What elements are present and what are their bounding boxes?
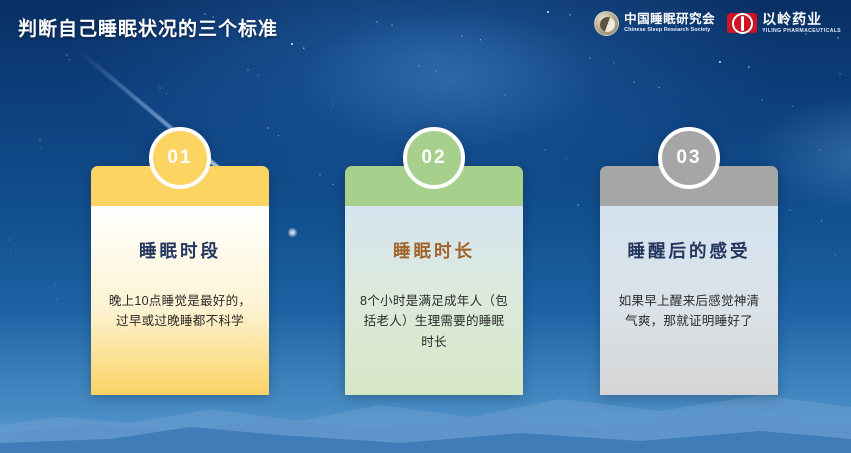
nebula-glow [300,10,600,150]
criterion-card-2[interactable]: 02 睡眠时长 8个小时是满足成年人（包括老人）生理需要的睡眠时长 [345,166,523,395]
card-title-2: 睡眠时长 [393,238,475,263]
criterion-card-3[interactable]: 03 睡醒后的感受 如果早上醒来后感觉神清气爽，那就证明睡好了 [600,166,778,395]
logo-group: 中国睡眠研究会 Chinese Sleep Research Society 以… [594,11,841,36]
card-number-badge-2: 02 [403,127,465,189]
sleep-society-emblem-icon [594,11,619,36]
slide-canvas: 判断自己睡眠状况的三个标准 中国睡眠研究会 Chinese Sleep Rese… [0,0,851,453]
card-number-badge-3: 03 [658,127,720,189]
sleep-society-name-cn: 中国睡眠研究会 [624,13,715,26]
card-body-3: 睡醒后的感受 如果早上醒来后感觉神清气爽，那就证明睡好了 [600,206,778,395]
card-text-3: 如果早上醒来后感觉神清气爽，那就证明睡好了 [614,291,764,332]
criterion-card-1[interactable]: 01 睡眠时段 晚上10点睡觉是最好的，过早或过晚睡都不科学 [91,166,269,395]
yiling-wordmark: 以岭药业 YILING PHARMACEUTICALS [762,12,841,34]
card-body-2: 睡眠时长 8个小时是满足成年人（包括老人）生理需要的睡眠时长 [345,206,523,395]
shooting-star-head-icon [288,228,297,237]
card-title-3: 睡醒后的感受 [628,238,751,263]
sleep-society-name-en: Chinese Sleep Research Society [624,28,715,33]
yiling-emblem-icon [727,13,757,33]
card-body-1: 睡眠时段 晚上10点睡觉是最好的，过早或过晚睡都不科学 [91,206,269,395]
yiling-name-en: YILING PHARMACEUTICALS [762,29,841,34]
page-title: 判断自己睡眠状况的三个标准 [18,14,278,41]
card-text-1: 晚上10点睡觉是最好的，过早或过晚睡都不科学 [105,291,255,332]
logo-yiling-pharmaceuticals: 以岭药业 YILING PHARMACEUTICALS [727,12,841,34]
yiling-name-cn: 以岭药业 [762,12,841,26]
mountain-range-near [0,413,851,453]
card-title-1: 睡眠时段 [139,238,221,263]
card-text-2: 8个小时是满足成年人（包括老人）生理需要的睡眠时长 [359,291,509,352]
card-number-badge-1: 01 [149,127,211,189]
sleep-society-wordmark: 中国睡眠研究会 Chinese Sleep Research Society [624,13,715,33]
logo-chinese-sleep-research-society: 中国睡眠研究会 Chinese Sleep Research Society [594,11,715,36]
